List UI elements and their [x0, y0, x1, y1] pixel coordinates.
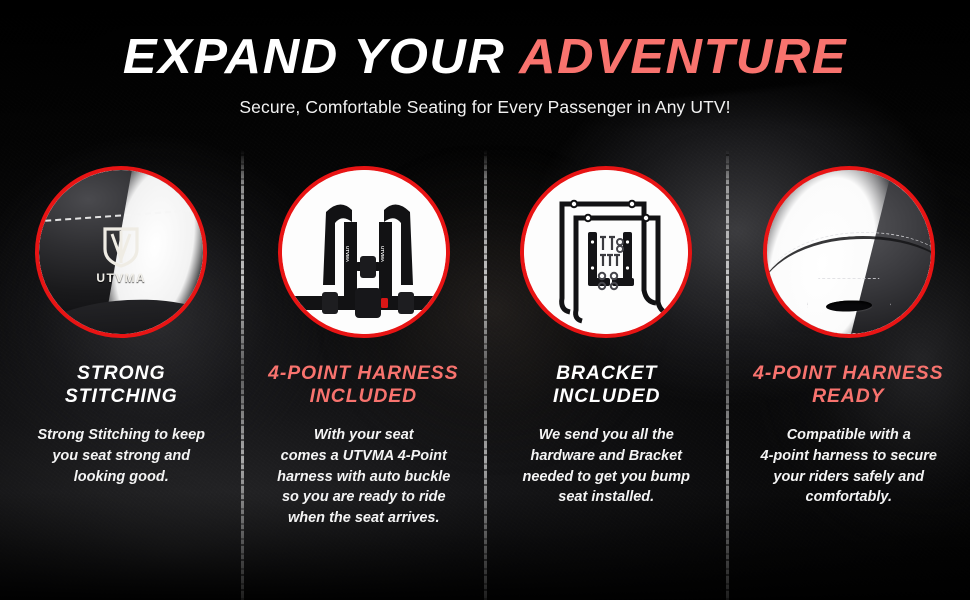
feature-column-harness-ready: 4-POINT HARNESS READY Compatible with a … [728, 160, 970, 590]
bracket-illustration-icon [524, 170, 688, 334]
feature-column-strong-stitching: UTVMA STRONG STITCHING Strong Stitching … [0, 160, 243, 590]
feature-heading: BRACKET INCLUDED [553, 362, 660, 408]
feature-heading: 4-POINT HARNESS READY [754, 362, 944, 408]
feature-column-bracket-included: BRACKET INCLUDED We send you all the har… [485, 160, 728, 590]
feature-column-harness-included: UTVMA UTVMA 4-POINT HARNESS INCLUDED Wit… [243, 160, 486, 590]
harness-pass-through-slot [807, 278, 891, 334]
utvma-shield-icon [98, 225, 144, 269]
feature-body: Strong Stitching to keep you seat strong… [23, 425, 219, 487]
headline-accent: ADVENTURE [519, 30, 847, 84]
buckle-release-button [381, 298, 388, 308]
feature-body: We send you all the hardware and Bracket… [508, 425, 704, 507]
feature-image-strong-stitching: UTVMA [35, 166, 207, 338]
feature-body: With your seat comes a UTVMA 4-Point har… [266, 425, 462, 528]
feature-columns: UTVMA STRONG STITCHING Strong Stitching … [0, 160, 970, 590]
strap-label-right: UTVMA [380, 246, 385, 263]
feature-image-harness-ready [763, 166, 935, 338]
utvma-logo: UTVMA [84, 225, 158, 285]
headline-primary: EXPAND YOUR [123, 30, 506, 84]
page-subtitle: Secure, Comfortable Seating for Every Pa… [0, 97, 970, 118]
four-point-harness-image: UTVMA UTVMA [282, 170, 446, 334]
feature-image-bracket-included [520, 166, 692, 338]
strap-label-left: UTVMA [345, 246, 350, 263]
feature-heading: 4-POINT HARNESS INCLUDED [269, 362, 459, 408]
harness-illustration-icon: UTVMA UTVMA [282, 170, 446, 334]
feature-image-harness-included: UTVMA UTVMA [278, 166, 450, 338]
feature-heading: STRONG STITCHING [65, 362, 178, 408]
utvma-logo-text: UTVMA [84, 271, 158, 285]
mounting-bracket-hardware-image [524, 170, 688, 334]
promo-banner: EXPAND YOUR ADVENTURE Secure, Comfortabl… [0, 0, 970, 600]
page-title: EXPAND YOUR ADVENTURE [0, 33, 970, 82]
feature-body: Compatible with a 4-point harness to sec… [751, 425, 947, 507]
